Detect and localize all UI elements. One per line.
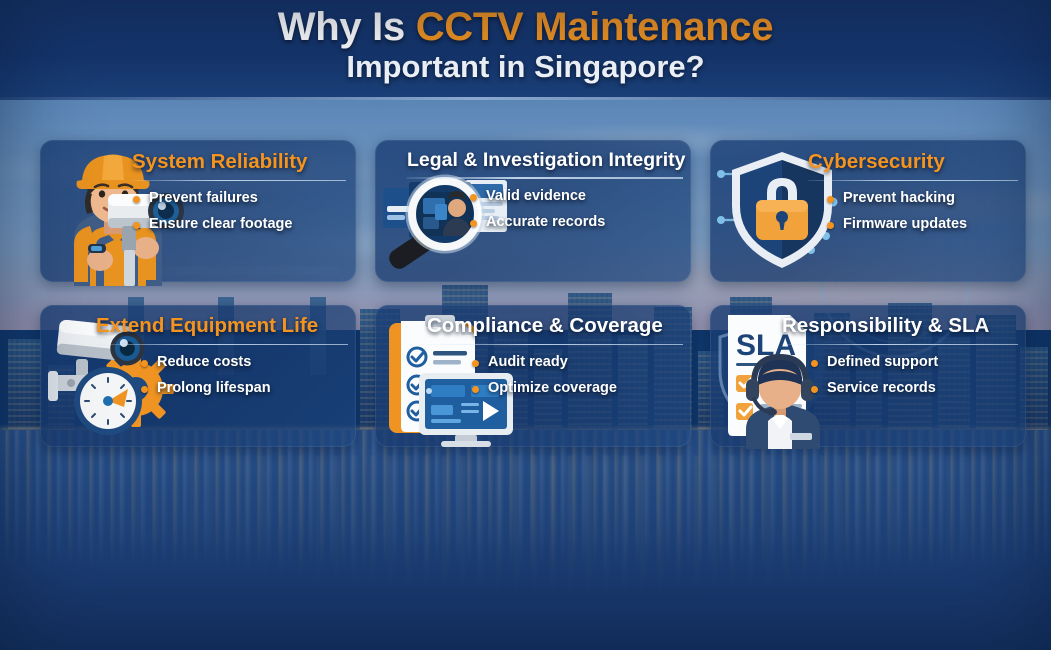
list-item: Defined support (810, 354, 1018, 370)
list-item: Prolong lifespan (140, 380, 348, 396)
title-divider (808, 180, 1018, 182)
list-item: Prevent hacking (826, 190, 1018, 206)
list-item: Reduce costs (140, 354, 348, 370)
card-legal-investigation-integrity[interactable]: Legal & Investigation Integrity Valid ev… (375, 140, 691, 282)
card-extend-equipment-life[interactable]: Extend Equipment Life Reduce costs Prolo… (40, 305, 356, 447)
title-divider (407, 177, 683, 179)
page-title: Why Is CCTV Maintenance (0, 6, 1051, 48)
list-item: Accurate records (469, 214, 683, 230)
card-bullets: Reduce costs Prolong lifespan (96, 354, 348, 396)
card-text-responsibility-sla: Responsibility & SLA Defined support Ser… (782, 315, 1018, 406)
title-divider (427, 344, 683, 346)
card-title: Cybersecurity (808, 151, 1018, 173)
card-title: Legal & Investigation Integrity (407, 150, 683, 170)
card-title: Responsibility & SLA (782, 315, 1018, 337)
card-bullets: Prevent failures Ensure clear footage (132, 190, 346, 232)
card-text-legal-investigation-integrity: Legal & Investigation Integrity Valid ev… (407, 150, 683, 240)
list-item: Audit ready (471, 354, 683, 370)
card-title: Compliance & Coverage (427, 315, 683, 337)
list-item: Prevent failures (132, 190, 346, 206)
card-bullets: Audit ready Optimize coverage (427, 354, 683, 396)
card-text-system-reliability: System Reliability Prevent failures Ensu… (132, 151, 346, 242)
list-item: Service records (810, 380, 1018, 396)
infographic-canvas: Why Is CCTV Maintenance Important in Sin… (0, 0, 1051, 650)
list-item: Firmware updates (826, 216, 1018, 232)
card-title: System Reliability (132, 151, 346, 173)
list-item: Optimize coverage (471, 380, 683, 396)
list-item: Ensure clear footage (132, 216, 346, 232)
card-cybersecurity[interactable]: Cybersecurity Prevent hacking Firmware u… (710, 140, 1026, 282)
page-title-prefix: Why Is (278, 5, 416, 49)
card-bullets: Prevent hacking Firmware updates (808, 190, 1018, 232)
card-bullets: Defined support Service records (782, 354, 1018, 396)
benefits-grid: System Reliability Prevent failures Ensu… (40, 140, 1011, 447)
page-title-accent: CCTV Maintenance (416, 5, 774, 49)
header-banner: Why Is CCTV Maintenance Important in Sin… (0, 0, 1051, 100)
card-text-extend-equipment-life: Extend Equipment Life Reduce costs Prolo… (96, 315, 348, 406)
card-text-compliance-coverage: Compliance & Coverage Audit ready Optimi… (427, 315, 683, 406)
card-bullets: Valid evidence Accurate records (407, 188, 683, 230)
title-divider (96, 344, 348, 346)
card-responsibility-sla[interactable]: SLA (710, 305, 1026, 447)
card-compliance-coverage[interactable]: Compliance & Coverage Audit ready Optimi… (375, 305, 691, 447)
card-system-reliability[interactable]: System Reliability Prevent failures Ensu… (40, 140, 356, 282)
title-divider (132, 180, 346, 182)
card-title: Extend Equipment Life (96, 315, 348, 337)
page-subtitle: Important in Singapore? (0, 50, 1051, 84)
list-item: Valid evidence (469, 188, 683, 204)
title-divider (782, 344, 1018, 346)
card-text-cybersecurity: Cybersecurity Prevent hacking Firmware u… (808, 151, 1018, 242)
